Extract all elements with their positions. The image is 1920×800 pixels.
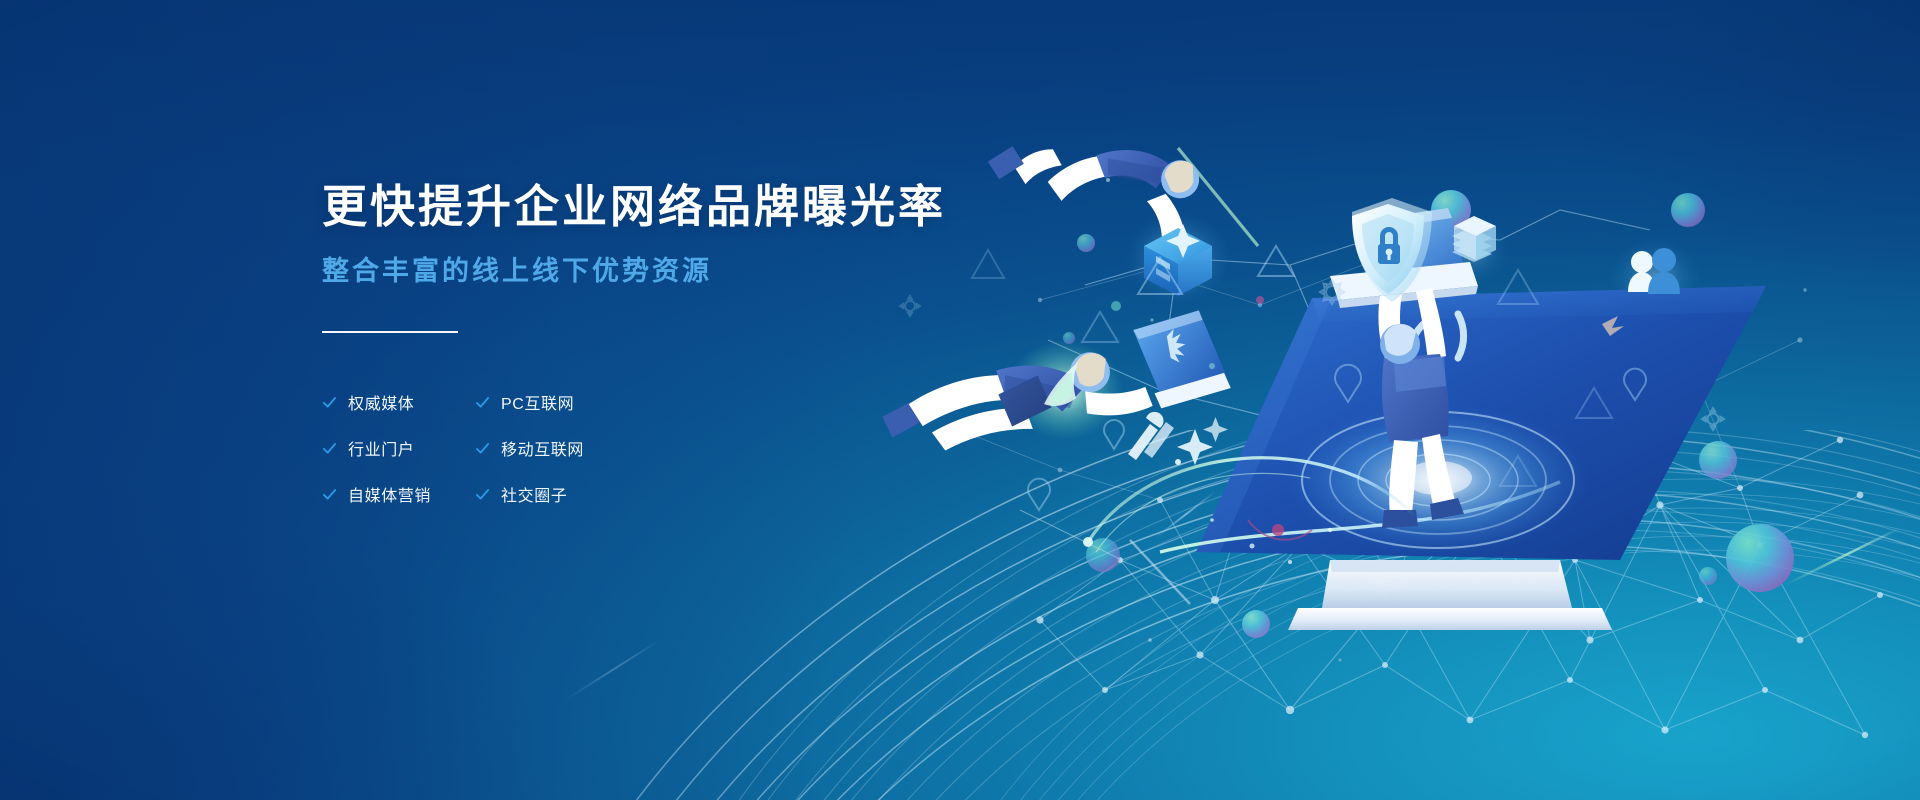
feature-column-right: PC互联网 移动互联网 社交圈子 xyxy=(475,385,675,511)
check-icon xyxy=(475,487,490,502)
check-icon xyxy=(322,395,337,410)
page-subtitle: 整合丰富的线上线下优势资源 xyxy=(322,255,942,287)
feature-column-left: 权威媒体 行业门户 自媒体营销 xyxy=(322,385,475,511)
list-item-label: 移动互联网 xyxy=(501,436,584,460)
hero-banner: 更快提升企业网络品牌曝光率 整合丰富的线上线下优势资源 权威媒体 行业门户 xyxy=(0,0,1920,800)
list-item: 权威媒体 xyxy=(322,385,475,419)
hero-content: 更快提升企业网络品牌曝光率 整合丰富的线上线下优势资源 权威媒体 行业门户 xyxy=(322,180,942,511)
divider xyxy=(322,331,458,333)
list-item-label: 行业门户 xyxy=(348,436,414,460)
list-item: 自媒体营销 xyxy=(322,477,475,511)
list-item-label: 自媒体营销 xyxy=(348,482,431,506)
list-item: 行业门户 xyxy=(322,431,475,465)
list-item-label: PC互联网 xyxy=(501,390,574,414)
check-icon xyxy=(322,487,337,502)
page-title: 更快提升企业网络品牌曝光率 xyxy=(322,180,942,233)
check-icon xyxy=(475,441,490,456)
feature-list: 权威媒体 行业门户 自媒体营销 xyxy=(322,385,942,511)
list-item: 社交圈子 xyxy=(475,477,675,511)
list-item: 移动互联网 xyxy=(475,431,675,465)
check-icon xyxy=(475,395,490,410)
check-icon xyxy=(322,441,337,456)
list-item-label: 权威媒体 xyxy=(348,390,414,414)
list-item-label: 社交圈子 xyxy=(501,482,567,506)
background-vignette xyxy=(0,0,1920,800)
list-item: PC互联网 xyxy=(475,385,675,419)
